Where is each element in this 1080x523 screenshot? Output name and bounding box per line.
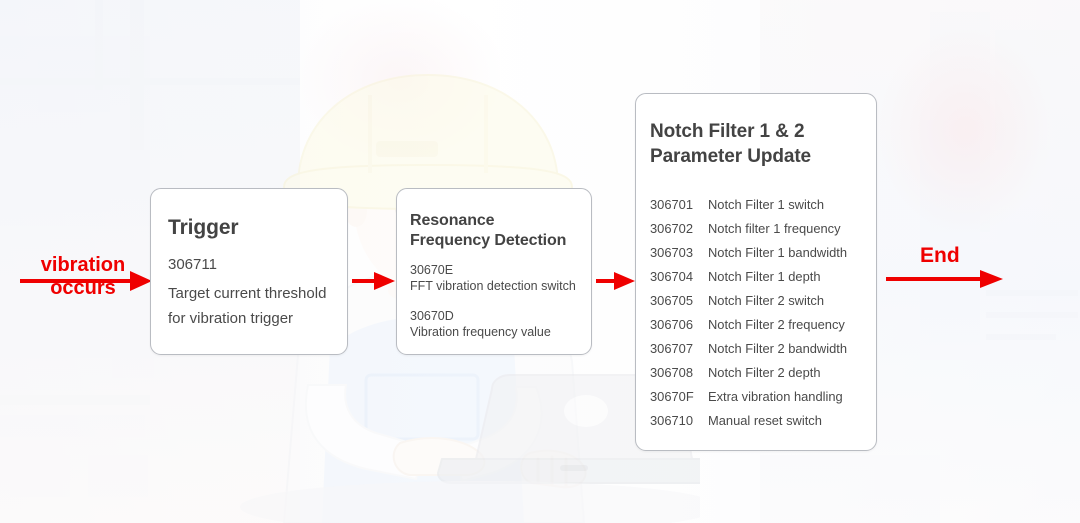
notch-parameter-row: 306702Notch filter 1 frequency [650, 217, 872, 241]
arrow-resonance-to-notch [596, 270, 636, 292]
notch-parameter-code: 30670F [650, 385, 708, 409]
notch-parameter-row: 306701Notch Filter 1 switch [650, 193, 872, 217]
notch-parameter-code: 306706 [650, 313, 708, 337]
trigger-card-title: Trigger [168, 216, 238, 240]
resonance-entry-code: 30670E [410, 263, 453, 277]
notch-parameter-row: 306703Notch Filter 1 bandwidth [650, 241, 872, 265]
resonance-card-title-line1: Resonance [410, 212, 494, 229]
notch-parameter-code: 306701 [650, 193, 708, 217]
arrow-trigger-to-resonance [352, 270, 396, 292]
resonance-card-title-line2: Frequency Detection [410, 232, 566, 249]
notch-parameter-code: 306707 [650, 337, 708, 361]
notch-parameter-row: 306708Notch Filter 2 depth [650, 361, 872, 385]
notch-parameter-code: 306708 [650, 361, 708, 385]
resonance-entry-label: FFT vibration detection switch [410, 279, 576, 293]
notch-parameter-label: Notch Filter 1 depth [708, 265, 872, 289]
flow-diagram-canvas: vibration occurs Trigger 306711 Target c… [0, 0, 1080, 523]
notch-parameter-list: 306701Notch Filter 1 switch306702Notch f… [650, 193, 872, 433]
notch-parameter-label: Notch Filter 1 bandwidth [708, 241, 872, 265]
entry-arrow [18, 268, 154, 294]
notch-parameter-label: Notch Filter 1 switch [708, 193, 872, 217]
background-pink-glow [880, 30, 1050, 230]
notch-parameter-row: 306705Notch Filter 2 switch [650, 289, 872, 313]
notch-parameter-code: 306710 [650, 409, 708, 433]
notch-parameter-row: 306707Notch Filter 2 bandwidth [650, 337, 872, 361]
notch-parameter-label: Manual reset switch [708, 409, 872, 433]
trigger-card-description: Target current threshold for vibration t… [168, 281, 346, 331]
resonance-card: Resonance Frequency Detection 30670E FFT… [396, 188, 592, 355]
notch-filter-card-title: Notch Filter 1 & 2 Parameter Update [650, 119, 870, 169]
notch-parameter-label: Notch filter 1 frequency [708, 217, 872, 241]
notch-parameter-code: 306704 [650, 265, 708, 289]
resonance-entry: 30670E FFT vibration detection switch [410, 263, 592, 294]
resonance-card-title: Resonance Frequency Detection [410, 211, 590, 251]
trigger-card: Trigger 306711 Target current threshold … [150, 188, 348, 355]
notch-parameter-code: 306705 [650, 289, 708, 313]
notch-filter-card-title-line2: Parameter Update [650, 146, 811, 167]
resonance-entry: 30670D Vibration frequency value [410, 309, 592, 340]
trigger-card-code: 306711 [168, 256, 217, 273]
notch-parameter-row: 30670FExtra vibration handling [650, 385, 872, 409]
notch-parameter-row: 306710Manual reset switch [650, 409, 872, 433]
exit-arrow [886, 268, 1004, 290]
resonance-entry-code: 30670D [410, 309, 454, 323]
notch-parameter-label: Notch Filter 2 frequency [708, 313, 872, 337]
notch-parameter-label: Notch Filter 2 switch [708, 289, 872, 313]
notch-parameter-row: 306704Notch Filter 1 depth [650, 265, 872, 289]
notch-filter-card: Notch Filter 1 & 2 Parameter Update 3067… [635, 93, 877, 451]
notch-filter-card-title-line1: Notch Filter 1 & 2 [650, 121, 804, 142]
notch-parameter-row: 306706Notch Filter 2 frequency [650, 313, 872, 337]
notch-parameter-label: Extra vibration handling [708, 385, 872, 409]
notch-parameter-label: Notch Filter 2 bandwidth [708, 337, 872, 361]
notch-parameter-label: Notch Filter 2 depth [708, 361, 872, 385]
exit-label: End [920, 244, 960, 267]
resonance-entry-label: Vibration frequency value [410, 325, 551, 339]
notch-parameter-code: 306702 [650, 217, 708, 241]
notch-parameter-code: 306703 [650, 241, 708, 265]
